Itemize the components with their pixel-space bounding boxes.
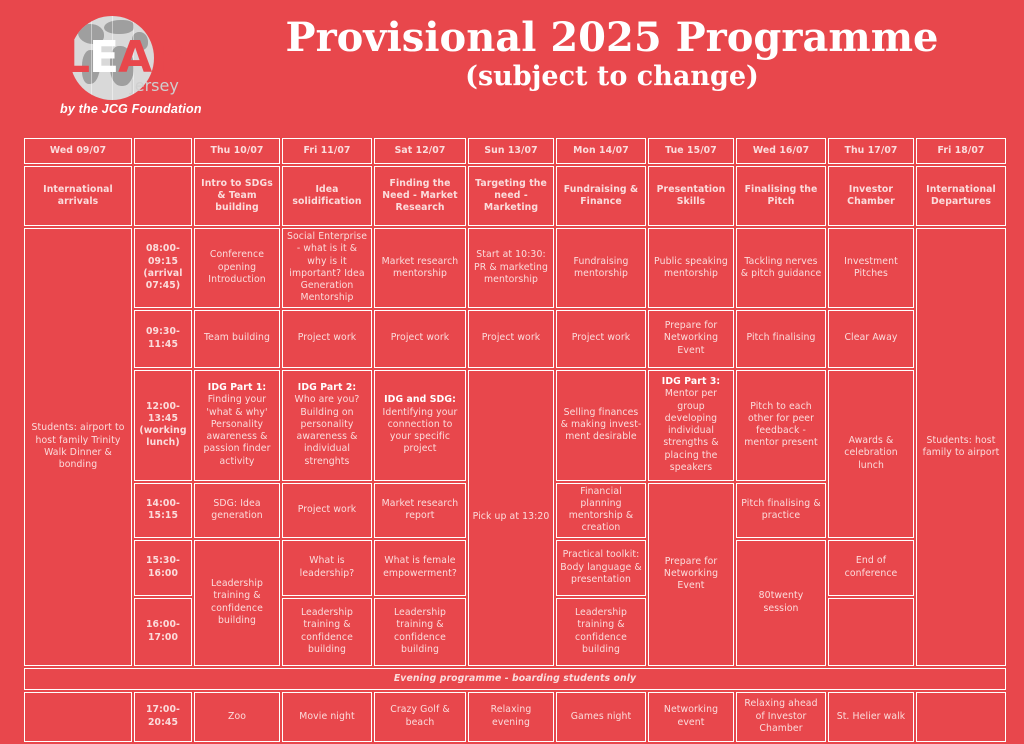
day-header-fri-1807: Fri 18/07 (916, 138, 1006, 164)
evening-cell-thu1707: St. Helier walk (828, 692, 914, 742)
side-cell-last-day: Students: host family to airport (916, 228, 1006, 666)
evening-cell-wed1607: Relaxing ahead of Investor Chamber (736, 692, 826, 742)
cell-sat1207-r2: IDG and SDG:Identifying your connection … (374, 370, 466, 481)
day-header-blank (134, 138, 192, 164)
cell-thu1007-r3: SDG: Idea generation (194, 483, 280, 538)
cell-tue1507-r2-lead: IDG Part 3: (662, 376, 720, 387)
cell-thu1707-r4: End of conference (828, 540, 914, 596)
evening-cell-wed0907 (24, 692, 132, 742)
logo-subword-jersey: Jersey (130, 76, 179, 95)
theme-wed-0907: International arrivals (24, 166, 132, 226)
cell-thu1707-r5 (828, 598, 914, 666)
cell-sat1207-r2-body: Identifying your connection to your spec… (383, 407, 458, 455)
cell-wed1607-80twenty: 80twenty session (736, 540, 826, 666)
cell-wed1607-r1: Pitch finalising (736, 310, 826, 368)
cell-mon1407-r0: Fundraising mentorship (556, 228, 646, 308)
cell-sat1207-r5: Leadership training & confidence buildin… (374, 598, 466, 666)
theme-sun-1307: Targeting the need - Marketing (468, 166, 554, 226)
logo-letter-e: E (89, 32, 118, 83)
cell-fri1107-r2-lead: IDG Part 2: (298, 382, 356, 393)
evening-cell-fri1107: Movie night (282, 692, 372, 742)
page-subtitle: (subject to change) (260, 62, 964, 92)
cell-thu1707-r1: Clear Away (828, 310, 914, 368)
theme-mon-1407: Fundraising & Finance (556, 166, 646, 226)
cell-mon1407-r5: Leadership training & confidence buildin… (556, 598, 646, 666)
cell-thu1007-r0: Conference opening Introduction (194, 228, 280, 308)
cell-thu1007-r2-body: Finding your 'what & why' Personality aw… (204, 394, 271, 466)
day-header-sat-1207: Sat 12/07 (374, 138, 466, 164)
title-block: Provisional 2025 Programme (subject to c… (260, 16, 964, 92)
cell-fri1107-r2: IDG Part 2:Who are you? Building on pers… (282, 370, 372, 481)
schedule-row-0930: 09:30-11:45 Team building Project work P… (24, 310, 1006, 368)
time-cell-3: 14:00-15:15 (134, 483, 192, 538)
evening-cell-sun1307: Relaxing evening (468, 692, 554, 742)
cell-fri1107-r2-body: Who are you? Building on personality awa… (295, 394, 360, 466)
cell-fri1107-r0: Social Enterprise - what is it & why is … (282, 228, 372, 308)
cell-thu1007-r2-lead: IDG Part 1: (208, 382, 266, 393)
cell-thu1007-leadership: Leadership training & confidence buildin… (194, 540, 280, 666)
day-header-sun-1307: Sun 13/07 (468, 138, 554, 164)
cell-tue1507-r0: Public speaking mentorship (648, 228, 734, 308)
cell-sun1307-r0: Start at 10:30: PR & marketing mentorshi… (468, 228, 554, 308)
programme-table: Wed 09/07 Thu 10/07 Fri 11/07 Sat 12/07 … (22, 136, 1008, 744)
day-header-fri-1107: Fri 11/07 (282, 138, 372, 164)
cell-wed1607-r0: Tackling nerves & pitch guidance (736, 228, 826, 308)
cell-mon1407-r2: Selling finances & making invest-ment de… (556, 370, 646, 481)
cell-fri1107-r1: Project work (282, 310, 372, 368)
table-theme-row: International arrivals Intro to SDGs & T… (24, 166, 1006, 226)
day-header-thu-1707: Thu 17/07 (828, 138, 914, 164)
cell-sat1207-r0: Market research mentorship (374, 228, 466, 308)
evening-cell-fri1807 (916, 692, 1006, 742)
evening-time-cell: 17:00-20:45 (134, 692, 192, 742)
cell-thu1707-r0: Investment Pitches (828, 228, 914, 308)
evening-cell-thu1007: Zoo (194, 692, 280, 742)
evening-banner: Evening programme - boarding students on… (24, 668, 1006, 690)
time-cell-0: 08:00-09:15 (arrival 07:45) (134, 228, 192, 308)
cell-thu1007-r1: Team building (194, 310, 280, 368)
evening-cell-mon1407: Games night (556, 692, 646, 742)
evening-banner-row: Evening programme - boarding students on… (24, 668, 1006, 690)
cell-wed1607-r2: Pitch to each other for peer feedback - … (736, 370, 826, 481)
theme-blank (134, 166, 192, 226)
evening-row: 17:00-20:45 Zoo Movie night Crazy Golf &… (24, 692, 1006, 742)
cell-sun1307-pickup: Pick up at 13:20 (468, 370, 554, 666)
day-header-wed-0907: Wed 09/07 (24, 138, 132, 164)
cell-sat1207-r2-lead: IDG and SDG: (384, 394, 456, 405)
time-cell-5: 16:00-17:00 (134, 598, 192, 666)
theme-thu-1707: Investor Chamber (828, 166, 914, 226)
programme-table-wrap: Wed 09/07 Thu 10/07 Fri 11/07 Sat 12/07 … (22, 136, 1002, 744)
theme-sat-1207: Finding the Need - Market Research (374, 166, 466, 226)
cell-tue1507-r1: Prepare for Networking Event (648, 310, 734, 368)
cell-sat1207-r3: Market research report (374, 483, 466, 538)
cell-sat1207-r4: What is female empowerment? (374, 540, 466, 596)
theme-tue-1507: Presentation Skills (648, 166, 734, 226)
time-cell-4: 15:30-16:00 (134, 540, 192, 596)
time-cell-2: 12:00-13:45 (working lunch) (134, 370, 192, 481)
schedule-row-1200: 12:00-13:45 (working lunch) IDG Part 1:F… (24, 370, 1006, 481)
logo-wordmark: LEAP (62, 36, 182, 80)
cell-tue1507-prepare: Prepare for Networking Event (648, 483, 734, 666)
day-header-tue-1507: Tue 15/07 (648, 138, 734, 164)
cell-mon1407-r3: Financial planning mentorship & creation (556, 483, 646, 538)
day-header-wed-1607: Wed 16/07 (736, 138, 826, 164)
leap-jersey-logo: LEAP Jersey by the JCG Foundation (52, 14, 212, 124)
cell-sat1207-r1: Project work (374, 310, 466, 368)
logo-byline: by the JCG Foundation (60, 102, 202, 116)
cell-fri1107-r4: What is leadership? (282, 540, 372, 596)
cell-sun1307-r1: Project work (468, 310, 554, 368)
evening-cell-tue1507: Networking event (648, 692, 734, 742)
poster-header: LEAP Jersey by the JCG Foundation Provis… (0, 0, 1024, 132)
side-cell-first-day: Students: airport to host family Trinity… (24, 228, 132, 666)
cell-fri1107-r5: Leadership training & confidence buildin… (282, 598, 372, 666)
cell-thu1707-awards: Awards & celebration lunch (828, 370, 914, 538)
logo-letter-l: L (62, 32, 89, 83)
theme-fri-1807: International Departures (916, 166, 1006, 226)
theme-fri-1107: Idea solidification (282, 166, 372, 226)
evening-cell-sat1207: Crazy Golf & beach (374, 692, 466, 742)
theme-wed-1607: Finalising the Pitch (736, 166, 826, 226)
programme-poster: LEAP Jersey by the JCG Foundation Provis… (0, 0, 1024, 724)
schedule-row-0800: Students: airport to host family Trinity… (24, 228, 1006, 308)
cell-fri1107-r3: Project work (282, 483, 372, 538)
table-header-row: Wed 09/07 Thu 10/07 Fri 11/07 Sat 12/07 … (24, 138, 1006, 164)
cell-tue1507-r2-body: Mentor per group developing individual s… (663, 388, 718, 473)
time-cell-1: 09:30-11:45 (134, 310, 192, 368)
cell-mon1407-r4: Practical toolkit: Body language & prese… (556, 540, 646, 596)
cell-mon1407-r1: Project work (556, 310, 646, 368)
theme-thu-1007: Intro to SDGs & Team building (194, 166, 280, 226)
cell-tue1507-r2: IDG Part 3:Mentor per group developing i… (648, 370, 734, 481)
day-header-mon-1407: Mon 14/07 (556, 138, 646, 164)
cell-thu1007-r2: IDG Part 1:Finding your 'what & why' Per… (194, 370, 280, 481)
page-title: Provisional 2025 Programme (260, 16, 964, 60)
day-header-thu-1007: Thu 10/07 (194, 138, 280, 164)
cell-wed1607-r3: Pitch finalising & practice (736, 483, 826, 538)
